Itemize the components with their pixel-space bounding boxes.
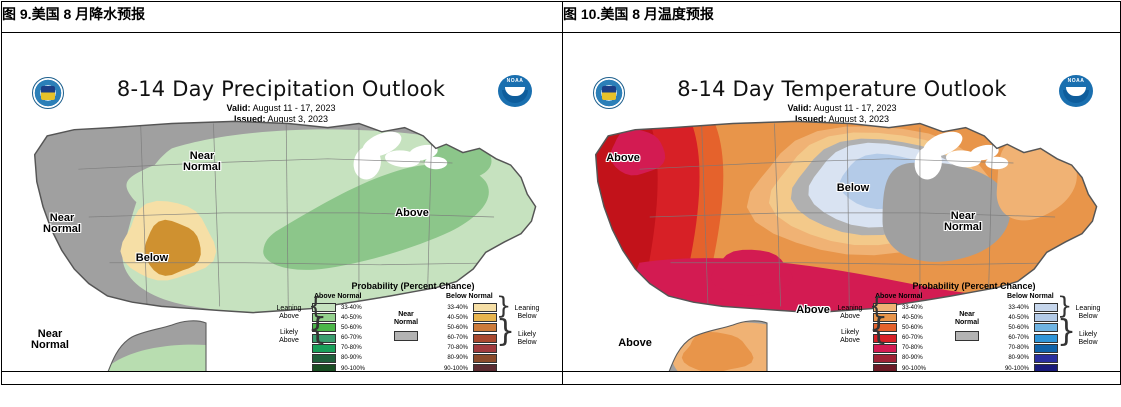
legend-brace-bracket: {	[308, 301, 323, 311]
valid-label: Valid:	[788, 103, 812, 113]
legend-range-below: 60-70%	[999, 335, 1029, 341]
legend-swatch-above	[312, 364, 336, 371]
valid-value: August 11 - 17, 2023	[814, 103, 897, 113]
legend-leaning-above: LeaningAbove	[268, 305, 310, 321]
legend-near-normal-line: Near	[944, 311, 990, 319]
legend-below-normal-heading: Below Normal	[446, 293, 493, 300]
legend-range-above: 80-90%	[902, 355, 923, 361]
legend-leaning-above-line: Leaning	[268, 305, 310, 313]
legend-swatch-above	[873, 364, 897, 371]
legend-range-above: 90-100%	[341, 366, 365, 371]
legend-swatch-below	[1034, 364, 1058, 371]
legend-item-below: 60-70%	[999, 334, 1058, 343]
legend-item-above: 80-90%	[312, 354, 365, 363]
legend-swatch-below	[473, 344, 497, 353]
legend-brace-bracket: }	[496, 301, 511, 311]
legend: Probability (Percent Chance)Above Normal…	[831, 281, 1117, 369]
legend-range-below: 50-60%	[999, 325, 1029, 331]
legend-title: Probability (Percent Chance)	[831, 281, 1117, 291]
legend-swatch-above	[312, 354, 336, 363]
legend-range-above: 80-90%	[341, 355, 362, 361]
map-title: 8-14 Day Precipitation Outlook	[2, 77, 560, 101]
legend-range-below: 40-50%	[999, 315, 1029, 321]
map-region-label-line: Normal	[939, 222, 987, 233]
precipitation-outlook-map: NOAA8-14 Day Precipitation OutlookValid:…	[2, 33, 560, 371]
figure-10-caption: 图 10.美国 8 月温度预报	[563, 2, 1120, 26]
legend-near-normal-line: Normal	[383, 319, 429, 327]
legend-below-column: 33-40%40-50%50-60%60-70%70-80%80-90%90-1…	[438, 303, 497, 371]
legend-likely-above-line: Likely	[268, 329, 310, 337]
legend-leaning-above: LeaningAbove	[829, 305, 871, 321]
temperature-outlook-map: NOAA8-14 Day Temperature OutlookValid: A…	[563, 33, 1121, 371]
legend-leaning-above-line: Above	[268, 313, 310, 321]
map-region-label-line: Below	[128, 253, 176, 264]
legend-swatch-below	[1034, 313, 1058, 322]
page-root: 图 9.美国 8 月降水预报 图 10.美国 8 月温度预报 NOAA8-14 …	[0, 0, 1121, 407]
legend-range-below: 40-50%	[438, 315, 468, 321]
legend-swatch-below	[1034, 344, 1058, 353]
map-region-label: NearNormal	[26, 329, 74, 351]
legend-range-below: 90-100%	[999, 366, 1029, 371]
legend-item-below: 70-80%	[438, 344, 497, 353]
alaska-inset-map	[581, 315, 771, 371]
legend-title: Probability (Percent Chance)	[270, 281, 556, 291]
legend-range-below: 80-90%	[999, 355, 1029, 361]
legend-item-below: 50-60%	[999, 323, 1058, 332]
legend-item-below: 50-60%	[438, 323, 497, 332]
legend-range-below: 70-80%	[438, 345, 468, 351]
legend-range-above: 70-80%	[341, 345, 362, 351]
map-region-label: Above	[599, 153, 647, 164]
legend-swatch-below	[1034, 334, 1058, 343]
legend-item-below: 80-90%	[438, 354, 497, 363]
map-region-label-line: Normal	[26, 340, 74, 351]
legend-swatch-above	[873, 354, 897, 363]
legend-range-above: 60-70%	[902, 335, 923, 341]
legend-range-above: 50-60%	[902, 325, 923, 331]
map-region-label: Below	[829, 183, 877, 194]
legend-swatch-near-normal	[955, 331, 979, 341]
legend-brace-bracket: {	[869, 301, 884, 311]
legend-range-below: 70-80%	[999, 345, 1029, 351]
map-region-label: Above	[611, 338, 659, 349]
legend-range-above: 40-50%	[902, 315, 923, 321]
legend-item-below: 33-40%	[999, 303, 1058, 312]
legend-near-normal: NearNormal	[944, 311, 990, 341]
legend-likely-above-line: Likely	[829, 329, 871, 337]
legend-range-above: 60-70%	[341, 335, 362, 341]
legend-swatch-below	[1034, 323, 1058, 332]
legend-item-below: 40-50%	[999, 313, 1058, 322]
valid-label: Valid:	[227, 103, 251, 113]
legend-item-above: 90-100%	[312, 364, 365, 371]
footer-cell-right	[563, 372, 1121, 385]
legend-item-above: 80-90%	[873, 354, 926, 363]
header-row: 图 9.美国 8 月降水预报 图 10.美国 8 月温度预报	[2, 2, 1121, 33]
footer-cell-left	[2, 372, 563, 385]
legend-item-below: 80-90%	[999, 354, 1058, 363]
legend-likely-above: LikelyAbove	[268, 329, 310, 345]
legend-range-above: 70-80%	[902, 345, 923, 351]
map-region-label-line: Below	[829, 183, 877, 194]
map-region-label: Above	[388, 208, 436, 219]
legend-swatch-below	[473, 313, 497, 322]
valid-line: Valid: August 11 - 17, 2023	[563, 103, 1121, 114]
map-title: 8-14 Day Temperature Outlook	[563, 77, 1121, 101]
legend-near-normal: NearNormal	[383, 311, 429, 341]
legend-range-above: 40-50%	[341, 315, 362, 321]
legend-swatch-below	[473, 354, 497, 363]
legend-brace-bracket: }	[1057, 301, 1072, 311]
legend-below-column: 33-40%40-50%50-60%60-70%70-80%80-90%90-1…	[999, 303, 1058, 371]
figure-table: 图 9.美国 8 月降水预报 图 10.美国 8 月温度预报 NOAA8-14 …	[1, 1, 1121, 385]
map-cell-precipitation: NOAA8-14 Day Precipitation OutlookValid:…	[2, 33, 563, 372]
legend-range-below: 33-40%	[438, 305, 468, 311]
legend-item-below: 60-70%	[438, 334, 497, 343]
footer-row	[2, 372, 1121, 385]
legend-swatch-below	[473, 334, 497, 343]
legend-brace-bracket: }	[496, 327, 515, 337]
legend-swatch-below	[473, 303, 497, 312]
legend-range-below: 50-60%	[438, 325, 468, 331]
legend-range-below: 60-70%	[438, 335, 468, 341]
header-cell-temperature: 图 10.美国 8 月温度预报	[563, 2, 1121, 33]
legend-item-below: 33-40%	[438, 303, 497, 312]
legend-brace-bracket: {	[308, 325, 327, 335]
legend-leaning-above-line: Leaning	[829, 305, 871, 313]
header-cell-precipitation: 图 9.美国 8 月降水预报	[2, 2, 563, 33]
legend-swatch-below	[473, 323, 497, 332]
legend-item-above: 90-100%	[873, 364, 926, 371]
legend-range-below: 33-40%	[999, 305, 1029, 311]
legend-likely-above: LikelyAbove	[829, 329, 871, 345]
map-region-label: NearNormal	[178, 151, 226, 173]
map-cell-temperature: NOAA8-14 Day Temperature OutlookValid: A…	[563, 33, 1121, 372]
legend-item-below: 90-100%	[999, 364, 1058, 371]
figure-9-caption: 图 9.美国 8 月降水预报	[2, 2, 562, 26]
legend-range-below: 80-90%	[438, 355, 468, 361]
valid-value: August 11 - 17, 2023	[253, 103, 336, 113]
legend-swatch-below	[1034, 303, 1058, 312]
legend-brace-bracket: }	[1057, 327, 1076, 337]
map-region-label-line: Normal	[38, 224, 86, 235]
map-row: NOAA8-14 Day Precipitation OutlookValid:…	[2, 33, 1121, 372]
legend-range-above: 50-60%	[341, 325, 362, 331]
legend-item-below: 90-100%	[438, 364, 497, 371]
legend-swatch-near-normal	[394, 331, 418, 341]
map-region-label: NearNormal	[38, 213, 86, 235]
legend-leaning-above-line: Above	[829, 313, 871, 321]
legend-likely-above-line: Above	[829, 337, 871, 345]
legend-item-below: 40-50%	[438, 313, 497, 322]
legend-range-above: 33-40%	[902, 305, 923, 311]
valid-line: Valid: August 11 - 17, 2023	[2, 103, 560, 114]
legend-brace-bracket: {	[869, 325, 888, 335]
map-region-label-line: Above	[599, 153, 647, 164]
legend-near-normal-line: Normal	[944, 319, 990, 327]
map-region-label: Below	[128, 253, 176, 264]
legend-range-above: 90-100%	[902, 366, 926, 371]
legend-swatch-below	[1034, 354, 1058, 363]
legend-below-normal-heading: Below Normal	[1007, 293, 1054, 300]
legend-range-above: 33-40%	[341, 305, 362, 311]
legend-range-below: 90-100%	[438, 366, 468, 371]
map-region-label: NearNormal	[939, 211, 987, 233]
map-region-label-line: Normal	[178, 162, 226, 173]
map-region-label-line: Above	[388, 208, 436, 219]
legend-near-normal-line: Near	[383, 311, 429, 319]
legend-item-below: 70-80%	[999, 344, 1058, 353]
map-region-label-line: Above	[611, 338, 659, 349]
legend-swatch-below	[473, 364, 497, 371]
legend: Probability (Percent Chance)Above Normal…	[270, 281, 556, 369]
legend-likely-above-line: Above	[268, 337, 310, 345]
